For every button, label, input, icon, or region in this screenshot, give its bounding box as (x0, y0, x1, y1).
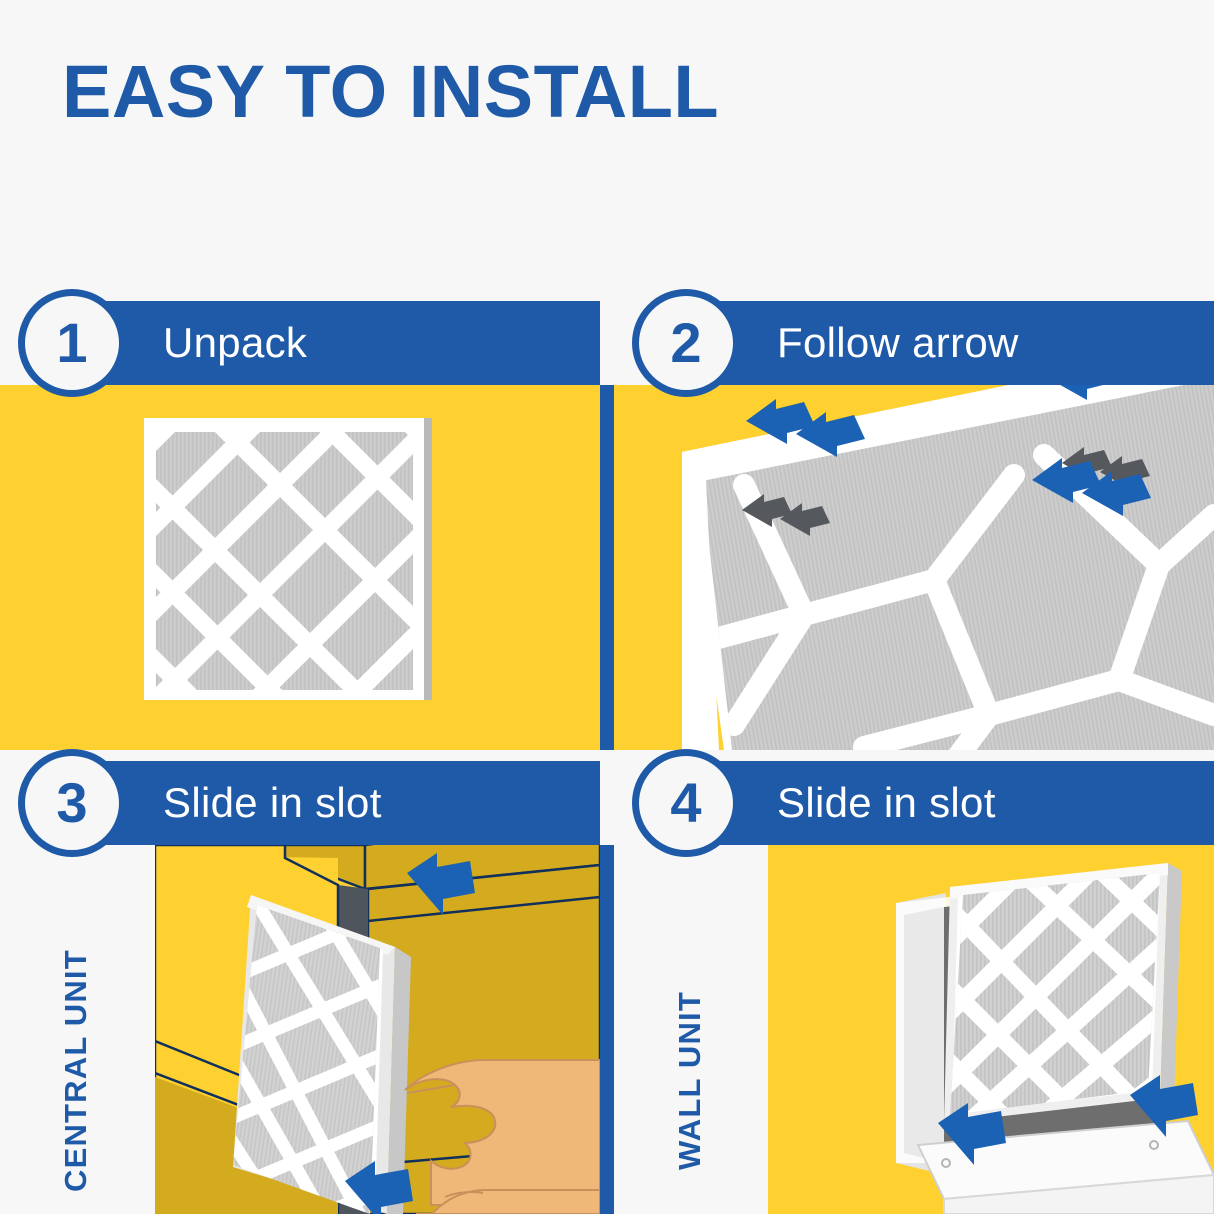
step-3-label: Slide in slot (163, 779, 382, 827)
step-4-number: 4 (632, 749, 740, 857)
air-filter-front-view-icon (0, 385, 600, 750)
step-3-side-label: CENTRAL UNIT (58, 862, 94, 1192)
wall-unit-insert-icon (768, 845, 1214, 1214)
step-3-number-text: 3 (56, 775, 87, 831)
central-unit-insert-icon (155, 845, 600, 1214)
step-1-number: 1 (18, 289, 126, 397)
step-4-number-text: 4 (670, 775, 701, 831)
column-divider-top (600, 385, 614, 750)
column-divider-bottom (600, 845, 614, 1214)
step-panel-2 (614, 385, 1214, 750)
step-3-number: 3 (18, 749, 126, 857)
step-1-number-text: 1 (56, 315, 87, 371)
step-3-illustration (155, 845, 600, 1214)
step-2-number-text: 2 (670, 315, 701, 371)
step-4-banner[interactable]: Slide in slot (671, 761, 1214, 845)
page-title: EASY TO INSTALL (62, 55, 719, 129)
step-4-label: Slide in slot (777, 779, 996, 827)
infographic-root: EASY TO INSTALL (0, 0, 1214, 1214)
step-3-banner[interactable]: Slide in slot (57, 761, 600, 845)
step-panel-1 (0, 385, 600, 750)
step-1-label: Unpack (163, 319, 307, 367)
step-2-number: 2 (632, 289, 740, 397)
step-panel-3 (155, 845, 600, 1214)
tilted-filter-airflow-icon (614, 385, 1214, 750)
step-4-illustration (768, 845, 1214, 1214)
step-4-side-label: WALL UNIT (672, 890, 708, 1170)
step-panel-4 (768, 845, 1214, 1214)
step-2-banner[interactable]: Follow arrow (671, 301, 1214, 385)
step-1-illustration (0, 385, 600, 750)
step-1-banner[interactable]: Unpack (57, 301, 600, 385)
step-2-label: Follow arrow (777, 319, 1019, 367)
step-2-illustration (614, 385, 1214, 750)
